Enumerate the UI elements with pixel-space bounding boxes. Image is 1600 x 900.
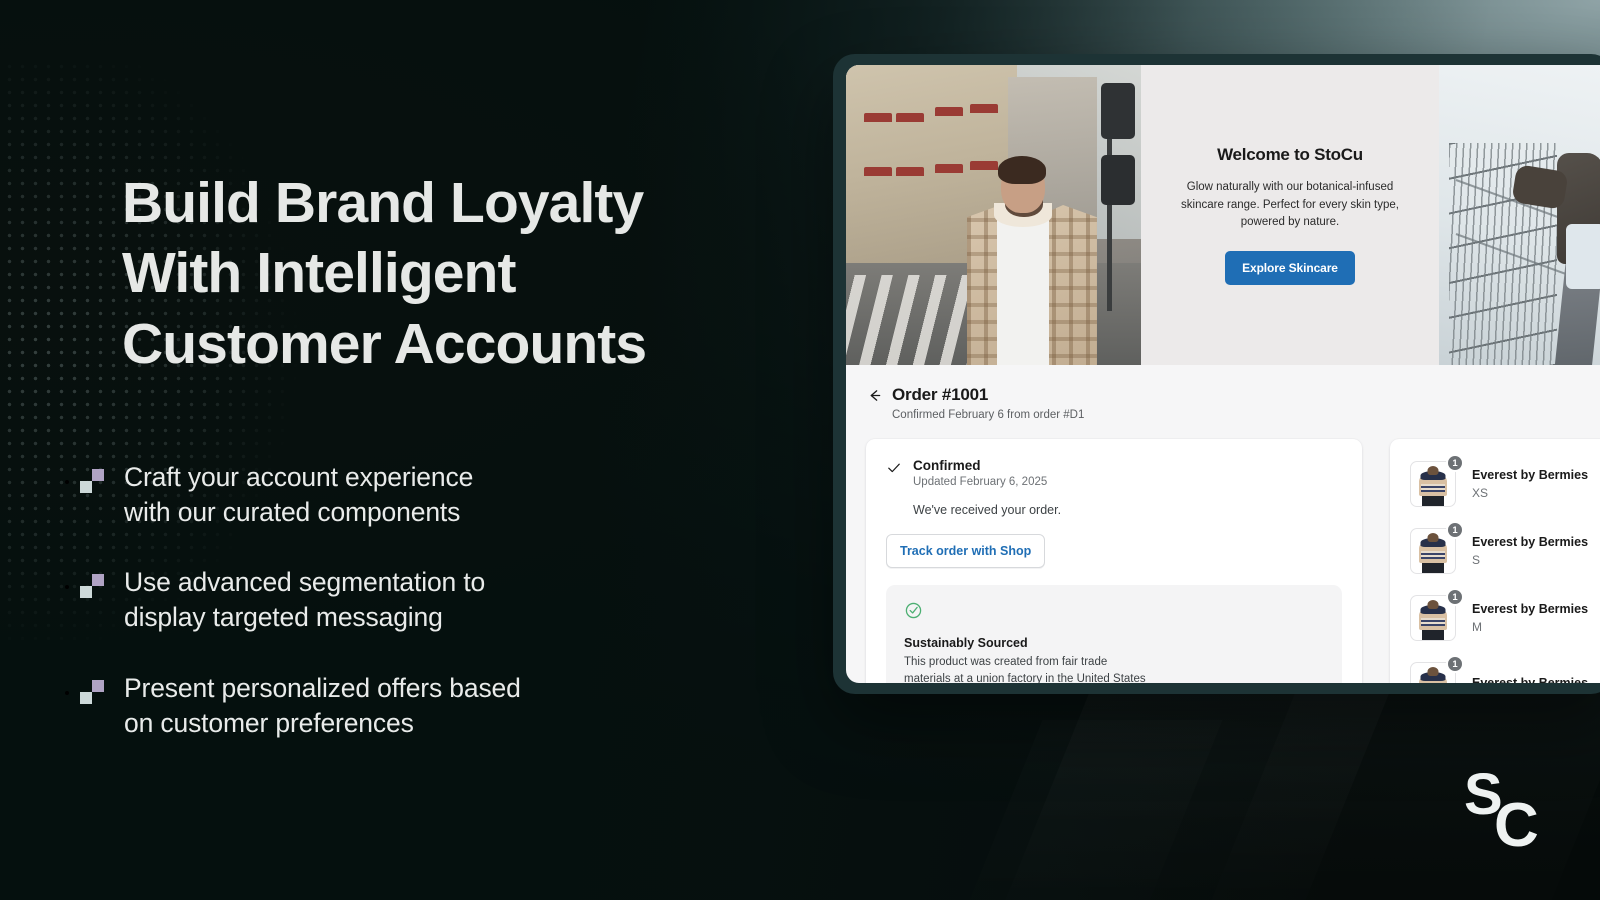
status-message: We've received your order. <box>913 503 1342 517</box>
order-title: Order #1001 <box>892 385 988 405</box>
list-item[interactable]: 1 Everest by Bermies M <box>1390 595 1600 641</box>
sustainability-body: This product was created from fair trade… <box>904 654 1324 683</box>
order-status-card: Confirmed Updated February 6, 2025 We've… <box>866 439 1362 683</box>
device-frame: Welcome to StoCu Glow naturally with our… <box>833 54 1600 694</box>
order-subtitle: Confirmed February 6 from order #D1 <box>892 409 1600 421</box>
list-item-label: Craft your account experience with our c… <box>124 462 473 527</box>
list-item[interactable]: 1 Everest by Bermies XS <box>1390 461 1600 507</box>
app-screen: Welcome to StoCu Glow naturally with our… <box>846 65 1600 683</box>
sustainability-callout: Sustainably Sourced This product was cre… <box>886 585 1342 683</box>
product-name: Everest by Bermies <box>1472 468 1588 482</box>
product-variant: S <box>1472 553 1588 567</box>
product-thumbnail: 1 <box>1410 595 1456 641</box>
welcome-title: Welcome to StoCu <box>1217 145 1363 165</box>
banner-image-left <box>846 65 1141 365</box>
explore-skincare-button[interactable]: Explore Skincare <box>1225 251 1355 285</box>
list-item[interactable]: 1 Everest by Bermies S <box>1390 528 1600 574</box>
list-item-label: Present personalized offers based on cus… <box>124 673 521 738</box>
list-item: Use advanced segmentation to display tar… <box>80 565 760 634</box>
bullet-square-icon <box>80 469 104 493</box>
quantity-badge: 1 <box>1446 454 1464 472</box>
store-banner: Welcome to StoCu Glow naturally with our… <box>846 65 1600 365</box>
sustainability-title: Sustainably Sourced <box>904 636 1324 650</box>
quantity-badge: 1 <box>1446 521 1464 539</box>
list-item[interactable]: 1 Everest by Bermies <box>1390 662 1600 683</box>
bullet-square-icon <box>80 574 104 598</box>
arrow-left-icon[interactable] <box>866 387 883 404</box>
welcome-panel: Welcome to StoCu Glow naturally with our… <box>1141 65 1439 365</box>
order-status-column: Confirmed Updated February 6, 2025 We've… <box>866 439 1362 683</box>
welcome-description: Glow naturally with our botanical-infuse… <box>1174 179 1406 231</box>
check-circle-icon <box>904 607 923 624</box>
product-name: Everest by Bermies <box>1472 535 1588 549</box>
status-badge: Confirmed <box>913 458 1047 473</box>
product-thumbnail: 1 <box>1410 662 1456 683</box>
bullet-square-icon <box>80 680 104 704</box>
banner-image-right <box>1439 65 1600 365</box>
quantity-badge: 1 <box>1446 588 1464 606</box>
product-variant: XS <box>1472 486 1588 500</box>
page-title: Build Brand Loyalty With Intelligent Cus… <box>122 168 782 379</box>
status-updated-date: Updated February 6, 2025 <box>913 476 1047 488</box>
svg-text:C: C <box>1494 791 1539 852</box>
order-header: Order #1001 Confirmed February 6 from or… <box>846 365 1600 439</box>
list-item: Present personalized offers based on cus… <box>80 671 760 740</box>
check-icon <box>886 460 902 476</box>
list-item: Craft your account experience with our c… <box>80 460 760 529</box>
sc-logo: S C <box>1460 766 1552 852</box>
quantity-badge: 1 <box>1446 655 1464 673</box>
track-order-button[interactable]: Track order with Shop <box>886 534 1045 568</box>
order-body: Confirmed Updated February 6, 2025 We've… <box>846 439 1600 683</box>
product-name: Everest by Bermies <box>1472 602 1588 616</box>
feature-list: Craft your account experience with our c… <box>80 460 760 740</box>
product-thumbnail: 1 <box>1410 528 1456 574</box>
product-name: Everest by Bermies <box>1472 676 1588 683</box>
product-variant: M <box>1472 620 1588 634</box>
product-thumbnail: 1 <box>1410 461 1456 507</box>
marketing-copy: Build Brand Loyalty With Intelligent Cus… <box>122 168 782 379</box>
order-items-card: 1 Everest by Bermies XS 1 Ev <box>1390 439 1600 683</box>
order-items-column: 1 Everest by Bermies XS 1 Ev <box>1390 439 1600 683</box>
list-item-label: Use advanced segmentation to display tar… <box>124 567 485 632</box>
